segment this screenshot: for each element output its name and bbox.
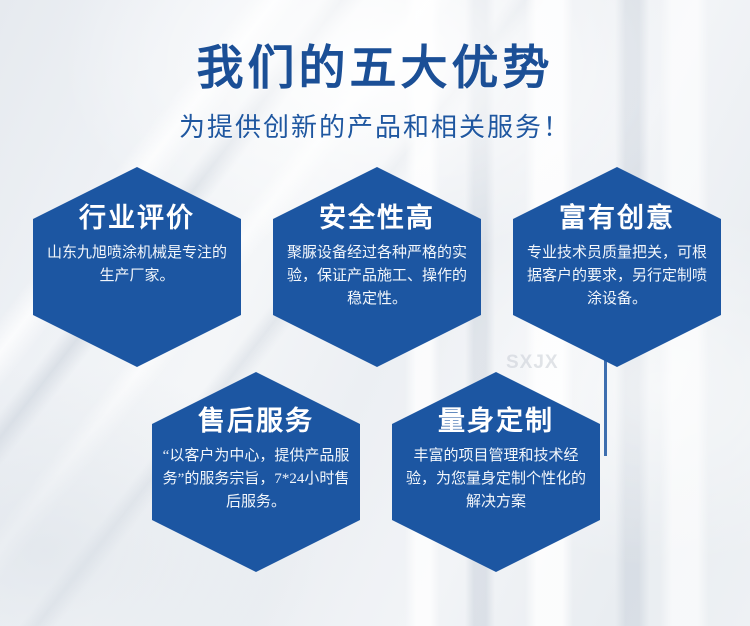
background-watermark: SXJX: [506, 352, 576, 382]
advantage-title: 售后服务: [152, 372, 360, 436]
advantage-description: “以客户为中心，提供产品服务”的服务宗旨，7*24小时售后服务。: [152, 436, 360, 513]
advantage-title: 行业评价: [33, 167, 241, 233]
advantage-description: 丰富的项目管理和技术经验，为您量身定制个性化的解决方案: [392, 436, 600, 513]
advantage-card-tailor-made[interactable]: 量身定制 丰富的项目管理和技术经验，为您量身定制个性化的解决方案: [392, 372, 600, 572]
page-title: 我们的五大优势: [0, 0, 750, 95]
advantages-banner: SXJX 我们的五大优势 为提供创新的产品和相关服务！ 行业评价 山东九旭喷涂机…: [0, 0, 750, 626]
advantage-title: 富有创意: [513, 167, 721, 233]
banner-headings: 我们的五大优势 为提供创新的产品和相关服务！: [0, 0, 750, 144]
advantage-card-industry-reputation[interactable]: 行业评价 山东九旭喷涂机械是专注的生产厂家。: [33, 167, 241, 367]
advantage-description: 聚脲设备经过各种严格的实验，保证产品施工、操作的稳定性。: [273, 233, 481, 310]
advantage-description: 山东九旭喷涂机械是专注的生产厂家。: [33, 233, 241, 288]
advantage-card-after-sales-service[interactable]: 售后服务 “以客户为中心，提供产品服务”的服务宗旨，7*24小时售后服务。: [152, 372, 360, 572]
advantage-title: 安全性高: [273, 167, 481, 233]
advantage-card-creative[interactable]: 富有创意 专业技术员质量把关，可根据客户的要求，另行定制喷涂设备。: [513, 167, 721, 367]
advantage-description: 专业技术员质量把关，可根据客户的要求，另行定制喷涂设备。: [513, 233, 721, 310]
advantage-card-high-safety[interactable]: 安全性高 聚脲设备经过各种严格的实验，保证产品施工、操作的稳定性。: [273, 167, 481, 367]
page-subtitle: 为提供创新的产品和相关服务！: [0, 95, 750, 144]
